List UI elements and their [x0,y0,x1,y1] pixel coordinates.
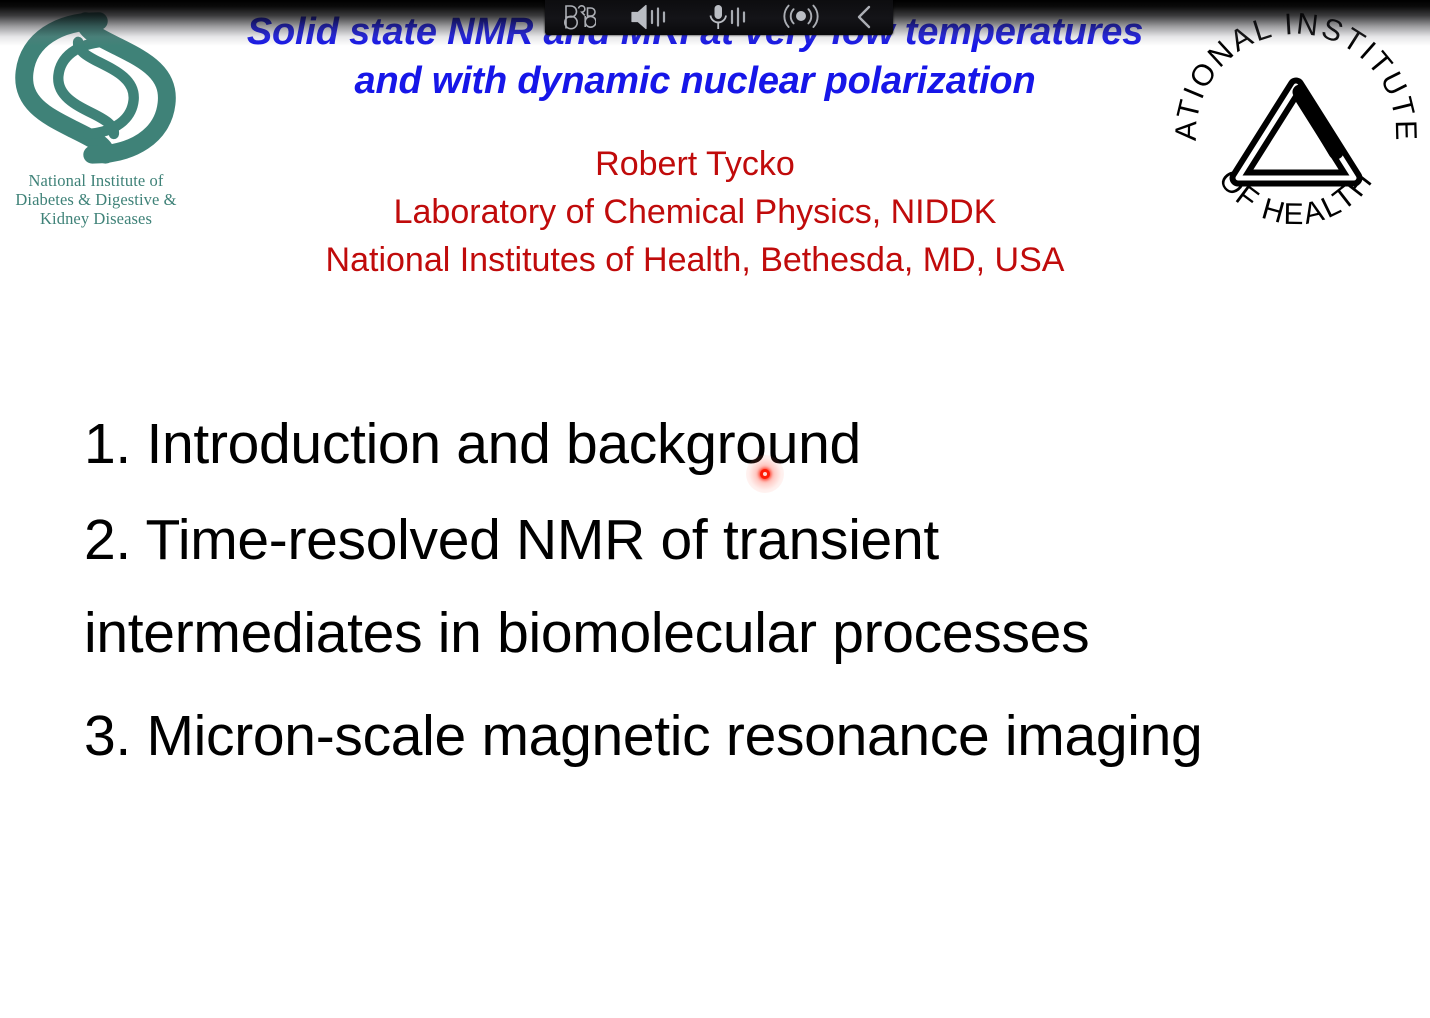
slide-outline-list: 1. Introduction and background 2. Time-r… [84,398,1404,783]
author-lab: Laboratory of Chemical Physics, NIDDK [190,188,1200,236]
niddk-logo-text: National Institute of Diabetes & Digesti… [2,171,190,228]
niddk-logo: National Institute of Diabetes & Digesti… [2,4,190,248]
niddk-logo-text-line-1: National Institute of [2,171,190,190]
outline-item-3: 3. Micron-scale magnetic resonance imagi… [84,690,1404,783]
nih-ring-text-top: NATIONAL INSTITUTES [1174,6,1418,143]
bang-olufsen-logo-icon [562,0,596,35]
author-affiliation-block: Robert Tycko Laboratory of Chemical Phys… [190,140,1200,284]
microphone-icon[interactable] [705,0,747,35]
author-institution: National Institutes of Health, Bethesda,… [190,236,1200,284]
outline-item-1: 1. Introduction and background [84,398,1404,491]
osd-toolbar[interactable] [545,0,893,35]
slide-title-line-2: and with dynamic nuclear polarization [190,57,1200,106]
niddk-emblem-icon [2,4,190,169]
noise-cancellation-icon[interactable] [781,0,821,35]
niddk-logo-text-line-2: Diabetes & Digestive & [2,190,190,209]
author-name: Robert Tycko [190,140,1200,188]
svg-text:NATIONAL INSTITUTES: NATIONAL INSTITUTES [1174,6,1418,143]
presentation-slide: National Institute of Diabetes & Digesti… [0,0,1430,1018]
back-chevron-icon[interactable] [854,0,876,35]
speaker-volume-icon[interactable] [629,0,671,35]
nih-logo: NATIONAL INSTITUTES OF HEALTH [1174,6,1418,250]
nih-emblem-icon: NATIONAL INSTITUTES OF HEALTH [1174,6,1418,250]
outline-item-2-line-2: intermediates in biomolecular processes [84,587,1404,680]
outline-item-2: 2. Time-resolved NMR of transient interm… [84,494,1404,680]
outline-item-2-line-1: 2. Time-resolved NMR of transient [84,494,1404,587]
niddk-logo-text-line-3: Kidney Diseases [2,209,190,228]
